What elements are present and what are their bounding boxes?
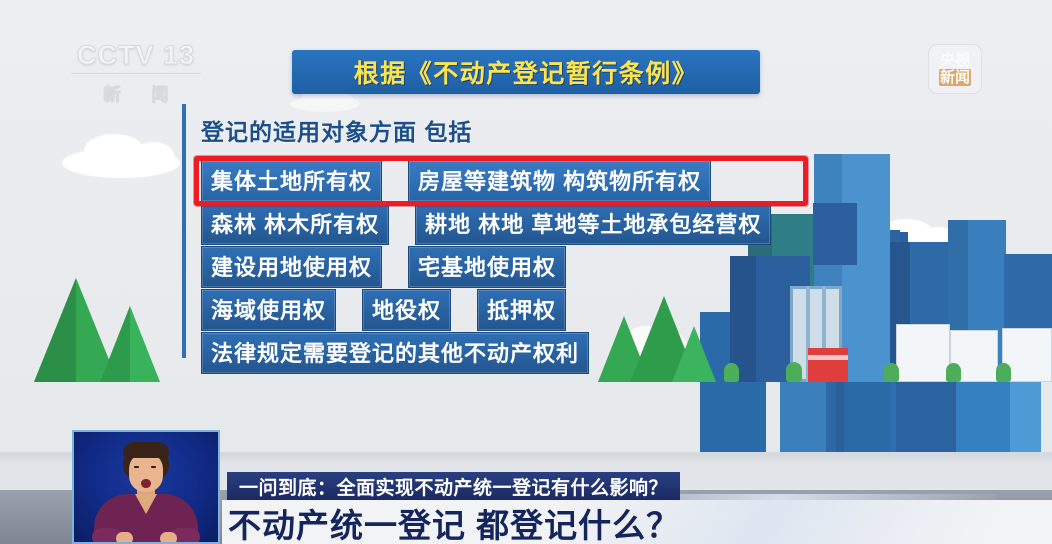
anchor-mouth [141, 479, 151, 488]
building-apartment [896, 324, 950, 382]
watermark-line1: 央视 [940, 53, 970, 69]
building-red [808, 355, 848, 360]
news-anchor-inset [72, 430, 220, 544]
list-chip: 耕地 林地 草地等土地承包经营权 [415, 203, 771, 245]
cctv-news-watermark: 央视 新闻 [928, 44, 982, 94]
bush-icon [996, 363, 1011, 382]
bush-icon [946, 363, 961, 382]
anchor-eye [151, 466, 156, 468]
main-headline-text: 不动产统一登记 都登记什么？ [228, 499, 680, 544]
anchor-fringe [123, 442, 169, 458]
list-subheading: 登记的适用对象方面 包括 [201, 113, 472, 147]
list-chip: 地役权 [362, 289, 451, 331]
bush-icon [724, 363, 739, 382]
tree-icon [672, 326, 716, 382]
title-banner-text: 根据《不动产登记暂行条例》 [354, 54, 699, 90]
cctv-logo-text: CCTV 13 [66, 40, 206, 71]
building-red [808, 348, 848, 382]
logo-divider [71, 73, 201, 74]
anchor-hand [160, 532, 177, 544]
red-highlight-box [194, 156, 808, 206]
list-row: 建设用地使用权 宅基地使用权 [201, 246, 566, 288]
list-chip: 法律规定需要登记的其他不动产权利 [201, 332, 589, 374]
tree-icon [34, 278, 76, 382]
main-headline: 不动产统一登记 都登记什么？ [228, 503, 680, 543]
title-banner: 根据《不动产登记暂行条例》 [292, 50, 760, 94]
tree-icon [100, 306, 130, 382]
list-row: 森林 林木所有权 耕地 林地 草地等土地承包经营权 [201, 203, 771, 245]
broadcast-screen: CCTV 13 新 闻 央视 新闻 根据《不动产登记暂行条例》 登记的适用对象方… [0, 0, 1052, 544]
panel-accent-rule [182, 104, 186, 358]
list-chip: 抵押权 [477, 289, 566, 331]
cctv-logo-subtext: 新 闻 [66, 80, 206, 105]
list-chip: 森林 林木所有权 [201, 203, 389, 245]
news-ticker-text: 一问到底：全面实现不动产统一登记有什么影响？ [239, 473, 668, 500]
anchor-eye [134, 466, 139, 468]
list-chip: 海域使用权 [201, 289, 336, 331]
anchor-neckline [135, 494, 157, 514]
bush-icon [786, 362, 802, 382]
cctv13-logo: CCTV 13 新 闻 [66, 40, 206, 104]
list-row: 法律规定需要登记的其他不动产权利 [201, 332, 589, 374]
list-chip: 宅基地使用权 [408, 246, 566, 288]
list-row: 海域使用权 地役权 抵押权 [201, 289, 566, 331]
building [813, 203, 857, 265]
list-chip: 建设用地使用权 [201, 246, 382, 288]
bush-icon [884, 363, 899, 382]
news-ticker: 一问到底：全面实现不动产统一登记有什么影响？ [227, 472, 680, 500]
anchor-hand [116, 532, 133, 544]
watermark-line2: 新闻 [939, 69, 971, 86]
